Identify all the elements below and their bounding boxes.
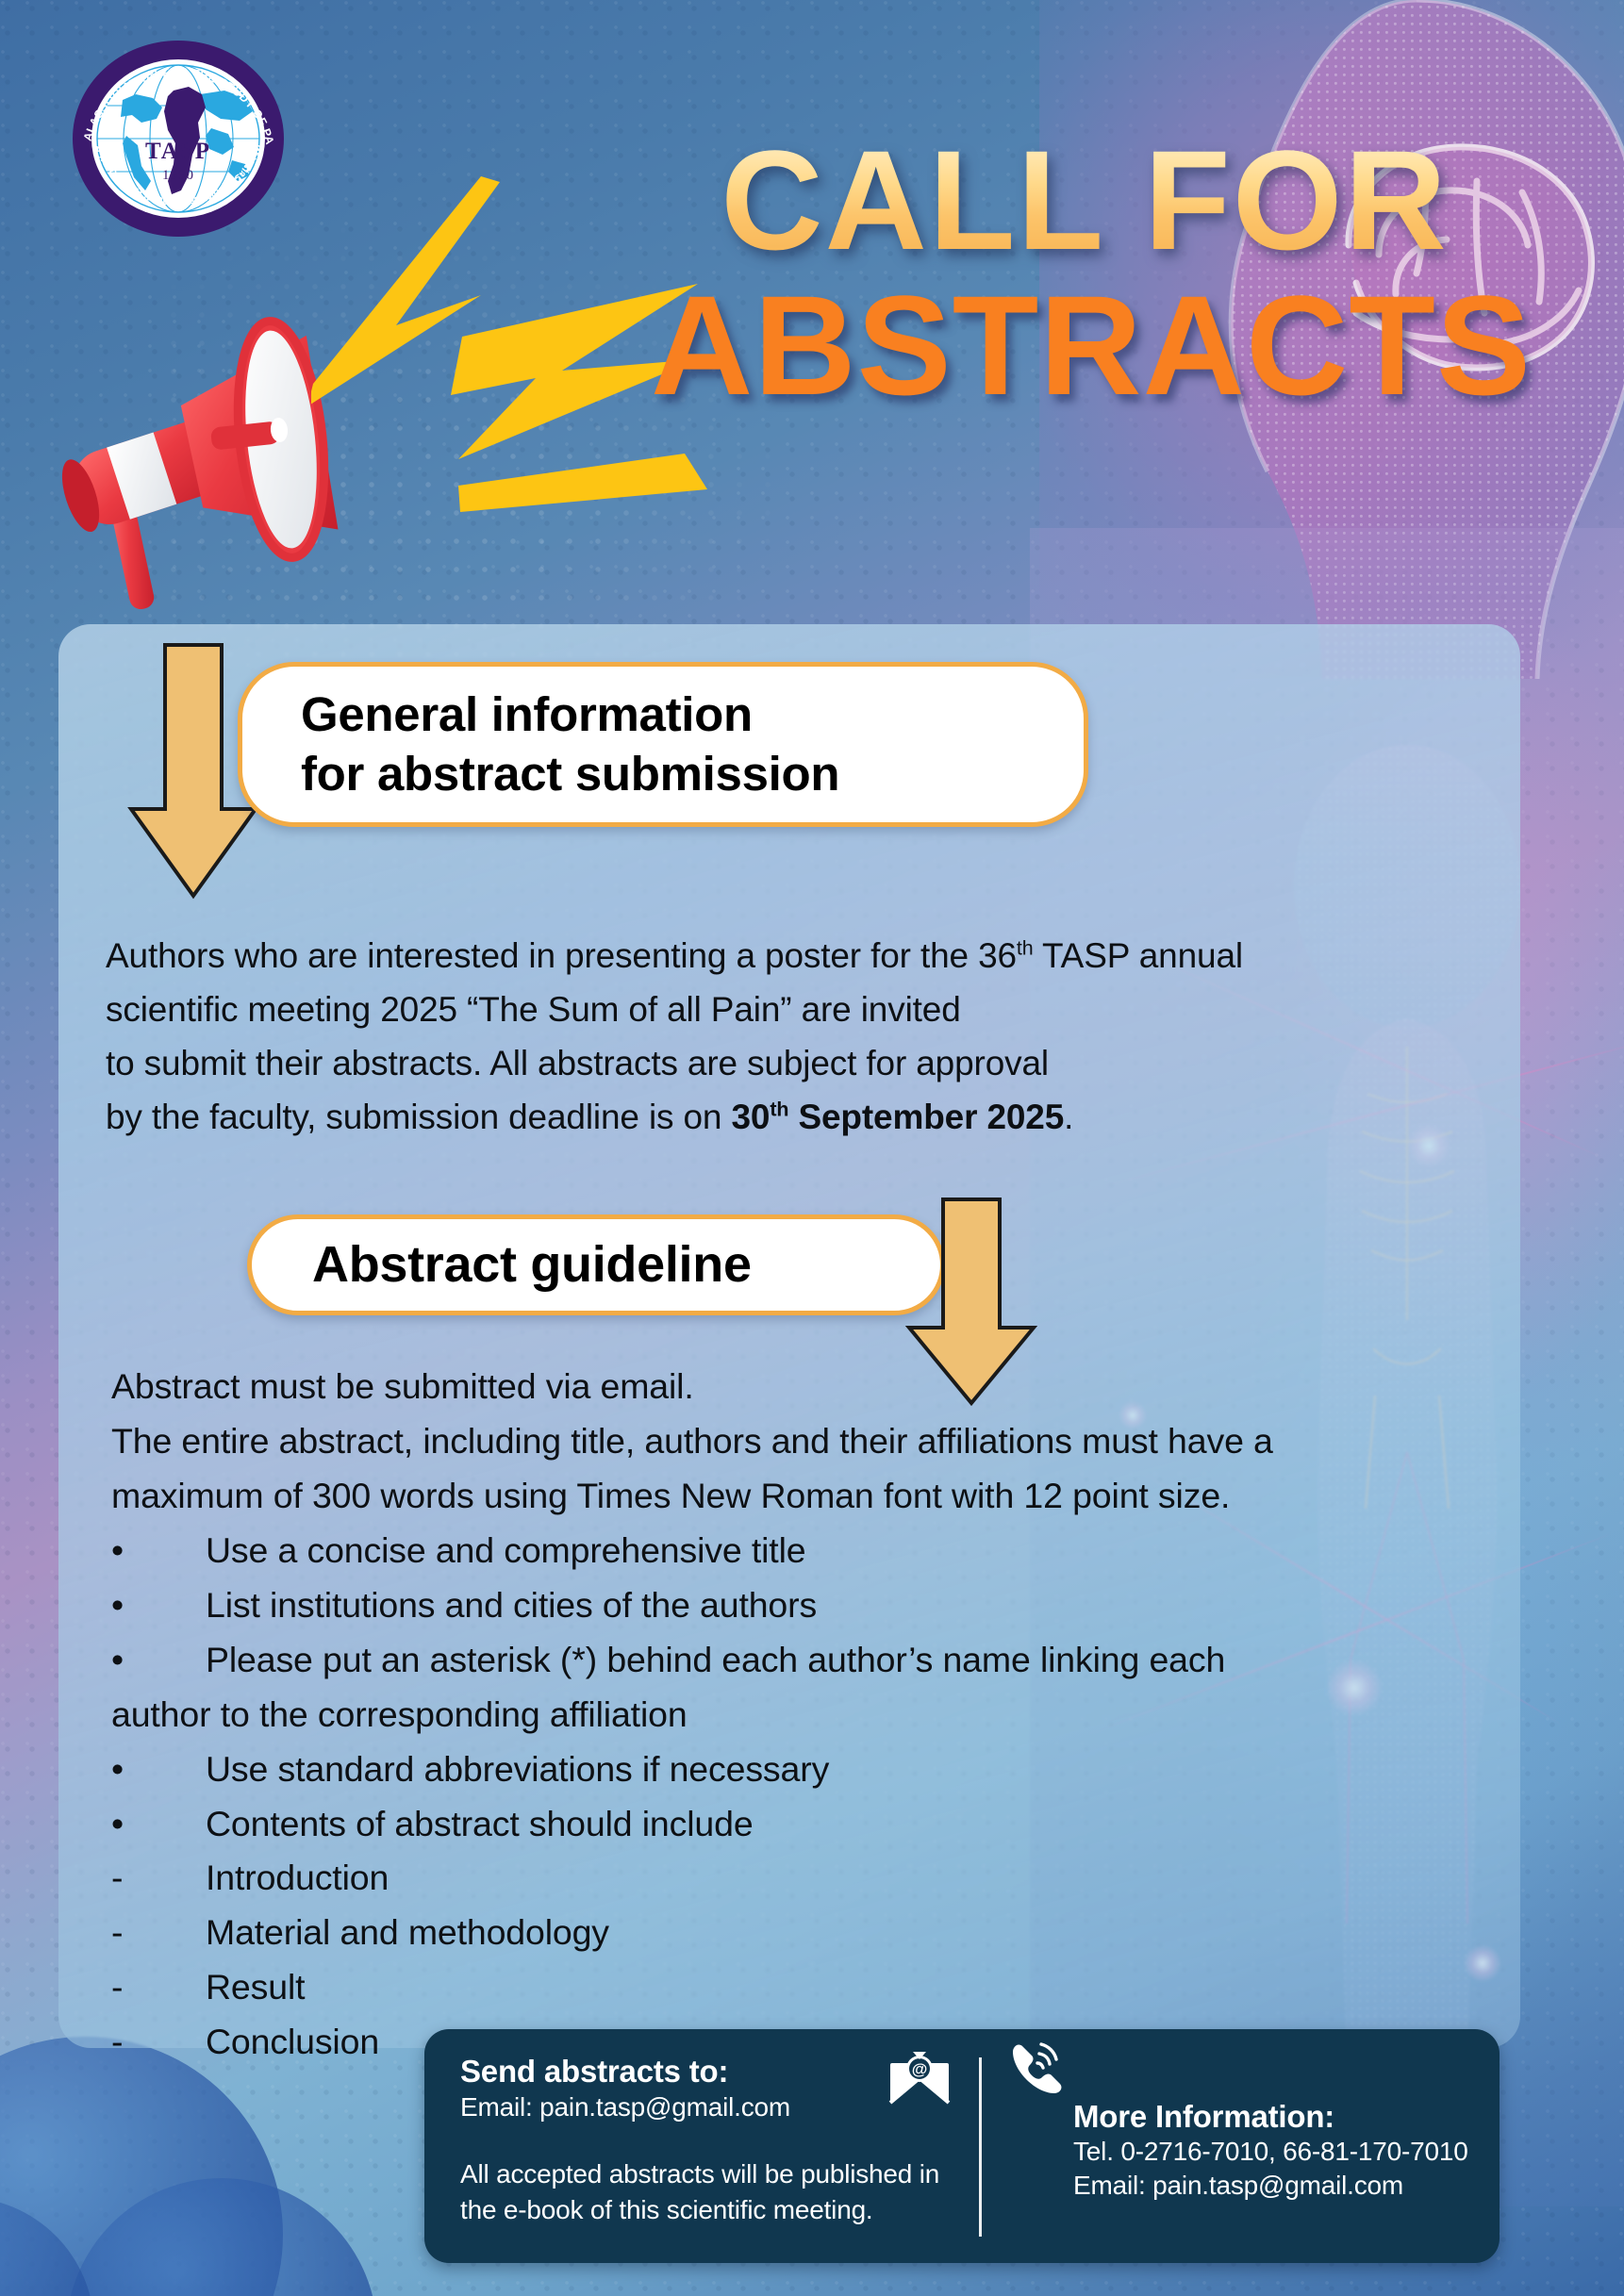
deadline-text: 30th September 2025 bbox=[732, 1098, 1065, 1136]
poster-title: CALL FOR ABSTRACTS bbox=[651, 132, 1518, 418]
more-information-email[interactable]: Email: pain.tasp@gmail.com bbox=[1073, 2169, 1500, 2203]
guideline-bullet-item: -Material and methodology bbox=[111, 1906, 1498, 1960]
bullet-text: List institutions and cities of the auth… bbox=[206, 1578, 1498, 1633]
publish-note-line-1: All accepted abstracts will be published… bbox=[460, 2156, 981, 2192]
intro-line-4: by the faculty, submission deadline is o… bbox=[106, 1090, 1464, 1144]
guideline-list: Abstract must be submitted via email.The… bbox=[111, 1360, 1498, 2070]
bullet-marker: - bbox=[111, 1960, 206, 2015]
guideline-bullet-item: •Use a concise and comprehensive title bbox=[111, 1524, 1498, 1578]
abstract-guideline-heading: Abstract guideline bbox=[247, 1214, 945, 1315]
phone-icon bbox=[1003, 2039, 1066, 2101]
svg-text:1990: 1990 bbox=[162, 168, 194, 183]
bullet-text: Please put an asterisk (*) behind each a… bbox=[206, 1633, 1498, 1688]
guideline-bullet-item: •List institutions and cities of the aut… bbox=[111, 1578, 1498, 1633]
bullet-marker: • bbox=[111, 1524, 206, 1578]
decorative-orb bbox=[0, 2197, 94, 2296]
contact-footer: Send abstracts to: Email: pain.tasp@gmai… bbox=[424, 2029, 1500, 2263]
general-information-heading: General information for abstract submiss… bbox=[238, 662, 1088, 827]
guideline-bullet-item: •Please put an asterisk (*) behind each … bbox=[111, 1633, 1498, 1688]
more-information-title: More Information: bbox=[1073, 2099, 1500, 2135]
bullet-text: Use a concise and comprehensive title bbox=[206, 1524, 1498, 1578]
bullet-text: Use standard abbreviations if necessary bbox=[206, 1743, 1498, 1797]
heading-line-2: for abstract submission bbox=[301, 745, 1084, 803]
decorative-orb bbox=[66, 2178, 377, 2296]
deadline-month-year: September 2025 bbox=[788, 1098, 1064, 1136]
publish-note-line-2: the e-book of this scientific meeting. bbox=[460, 2192, 981, 2228]
intro-line-1-sup: th bbox=[1017, 937, 1034, 960]
bullet-text: Contents of abstract should include bbox=[206, 1797, 1498, 1852]
deadline-sup: th bbox=[770, 1098, 788, 1121]
bullet-marker: • bbox=[111, 1743, 206, 1797]
intro-line-3: to submit their abstracts. All abstracts… bbox=[106, 1036, 1464, 1090]
deadline-day: 30 bbox=[732, 1098, 771, 1136]
guideline-bullet-item: •Contents of abstract should include bbox=[111, 1797, 1498, 1852]
intro-line-1: Authors who are interested in presenting… bbox=[106, 929, 1464, 983]
bullet-marker: • bbox=[111, 1797, 206, 1852]
brain-head-illustration bbox=[1096, 0, 1624, 679]
guideline-text-line: maximum of 300 words using Times New Rom… bbox=[111, 1469, 1498, 1524]
bullet-marker: - bbox=[111, 1851, 206, 1906]
more-info-text: More Information: Tel. 0-2716-7010, 66-8… bbox=[1073, 2099, 1500, 2204]
bullet-marker: - bbox=[111, 1906, 206, 1960]
bullet-text: Material and methodology bbox=[206, 1906, 1498, 1960]
send-abstracts-block: Send abstracts to: Email: pain.tasp@gmai… bbox=[424, 2029, 981, 2263]
intro-line-4-a: by the faculty, submission deadline is o… bbox=[106, 1098, 732, 1136]
title-line-2: ABSTRACTS bbox=[651, 273, 1518, 418]
intro-line-4-end: . bbox=[1064, 1098, 1073, 1136]
guideline-bullet-item: -Result bbox=[111, 1960, 1498, 2015]
more-information-tel[interactable]: Tel. 0-2716-7010, 66-81-170-7010 bbox=[1073, 2135, 1500, 2169]
title-line-1: CALL FOR bbox=[651, 132, 1518, 268]
guideline-bullet-item: -Introduction bbox=[111, 1851, 1498, 1906]
guideline-text-line: author to the corresponding affiliation bbox=[111, 1688, 1498, 1743]
guideline-text-line: Abstract must be submitted via email. bbox=[111, 1360, 1498, 1414]
guideline-text-line: The entire abstract, including title, au… bbox=[111, 1414, 1498, 1469]
spacer bbox=[460, 2124, 981, 2156]
head-glow bbox=[1039, 0, 1624, 679]
heading-line-1: General information bbox=[301, 685, 1084, 744]
bullet-text: Introduction bbox=[206, 1851, 1498, 1906]
lightning-bolts bbox=[311, 174, 717, 552]
intro-line-1-b: TASP annual bbox=[1034, 936, 1243, 975]
bullet-marker: - bbox=[111, 2015, 206, 2070]
intro-paragraph: Authors who are interested in presenting… bbox=[106, 929, 1464, 1145]
intro-line-1-a: Authors who are interested in presenting… bbox=[106, 936, 1017, 975]
decorative-orb bbox=[0, 2037, 283, 2296]
bullet-marker: • bbox=[111, 1578, 206, 1633]
intro-line-2: scientific meeting 2025 “The Sum of all … bbox=[106, 983, 1464, 1036]
poster-root: TASP 1990 THAI ASSOCIATION FOR THE STUDY… bbox=[0, 0, 1624, 2296]
svg-text:TASP: TASP bbox=[145, 139, 211, 164]
svg-text:@: @ bbox=[912, 2060, 928, 2078]
guideline-heading-text: Abstract guideline bbox=[312, 1234, 940, 1297]
guideline-bullet-item: •Use standard abbreviations if necessary bbox=[111, 1743, 1498, 1797]
email-icon: @ bbox=[888, 2050, 951, 2105]
bullet-text: Result bbox=[206, 1960, 1498, 2015]
more-information-block: More Information: Tel. 0-2716-7010, 66-8… bbox=[981, 2029, 1500, 2263]
bullet-marker: • bbox=[111, 1633, 206, 1688]
tasp-logo: TASP 1990 THAI ASSOCIATION FOR THE STUDY… bbox=[70, 38, 287, 240]
